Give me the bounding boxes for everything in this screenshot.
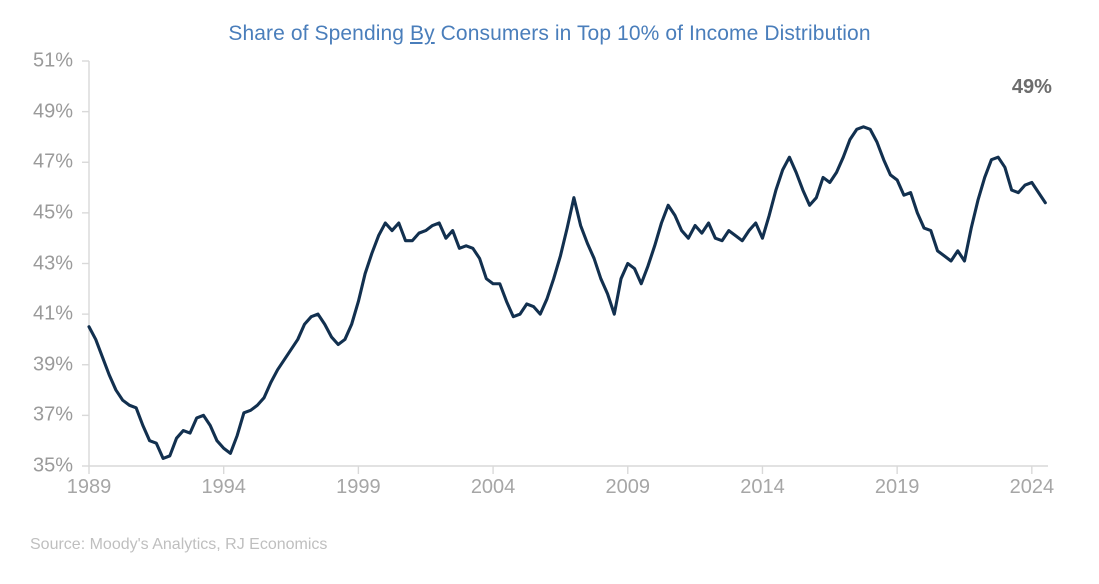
line-chart-plot <box>0 0 1099 584</box>
chart-page: Share of Spending By Consumers in Top 10… <box>0 0 1099 584</box>
source-note: Source: Moody's Analytics, RJ Economics <box>30 536 327 554</box>
axis-group <box>82 61 1048 474</box>
y-axis-ticks <box>82 61 89 466</box>
x-axis-ticks <box>89 466 1032 474</box>
data-series-line <box>89 127 1045 459</box>
end-value-label: 49% <box>1012 76 1052 99</box>
